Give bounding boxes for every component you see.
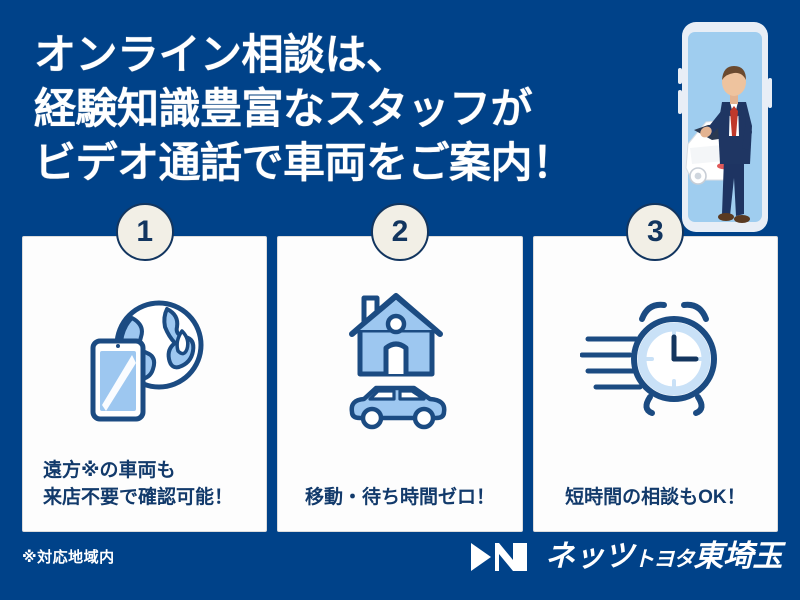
brand-name-main: ネッツ [545,540,634,573]
benefit-cards: 1 遠方※の車両も 来店不要で確認可能！ 2 [0,236,800,532]
card-number-badge-1: 1 [116,203,174,261]
headline-line-1: オンライン相談は、 [34,28,654,82]
globe-smartphone-icon [75,283,215,433]
brand-name-small: トヨタ [634,548,694,571]
card-number-badge-2: 2 [371,203,429,261]
footnote-text: ※対応地域内 [22,546,115,567]
card-caption-3: 短時間の相談もOK！ [557,484,754,511]
card-number-badge-3: 3 [626,203,684,261]
alarm-clock-speed-icon [580,283,730,433]
card-caption-2: 移動・待ち時間ゼロ！ [297,484,503,511]
online-consultation-banner: オンライン相談は、 経験知識豊富なスタッフが ビデオ通話で車両をご案内！ [0,0,800,600]
headline-line-3: ビデオ通話で車両をご案内！ [34,136,654,190]
house-car-icon [330,283,470,433]
netz-logo-mark [469,540,535,574]
smartphone-video-call-illustration [672,18,778,236]
benefit-card-3[interactable]: 3 [533,236,778,532]
headline: オンライン相談は、 経験知識豊富なスタッフが ビデオ通話で車両をご案内！ [34,28,654,190]
card-caption-1: 遠方※の車両も 来店不要で確認可能！ [23,457,266,511]
brand-name: ネッツトヨタ東埼玉 [545,542,782,572]
headline-line-2: 経験知識豊富なスタッフが [34,82,654,136]
footer: ※対応地域内 ネッツトヨタ東埼玉 [0,532,800,600]
brand-name-region: 東埼玉 [694,540,783,573]
benefit-card-1[interactable]: 1 遠方※の車両も 来店不要で確認可能！ [22,236,267,532]
brand-logo[interactable]: ネッツトヨタ東埼玉 [469,540,782,574]
benefit-card-2[interactable]: 2 [277,236,522,532]
hero-section: オンライン相談は、 経験知識豊富なスタッフが ビデオ通話で車両をご案内！ [0,0,800,236]
